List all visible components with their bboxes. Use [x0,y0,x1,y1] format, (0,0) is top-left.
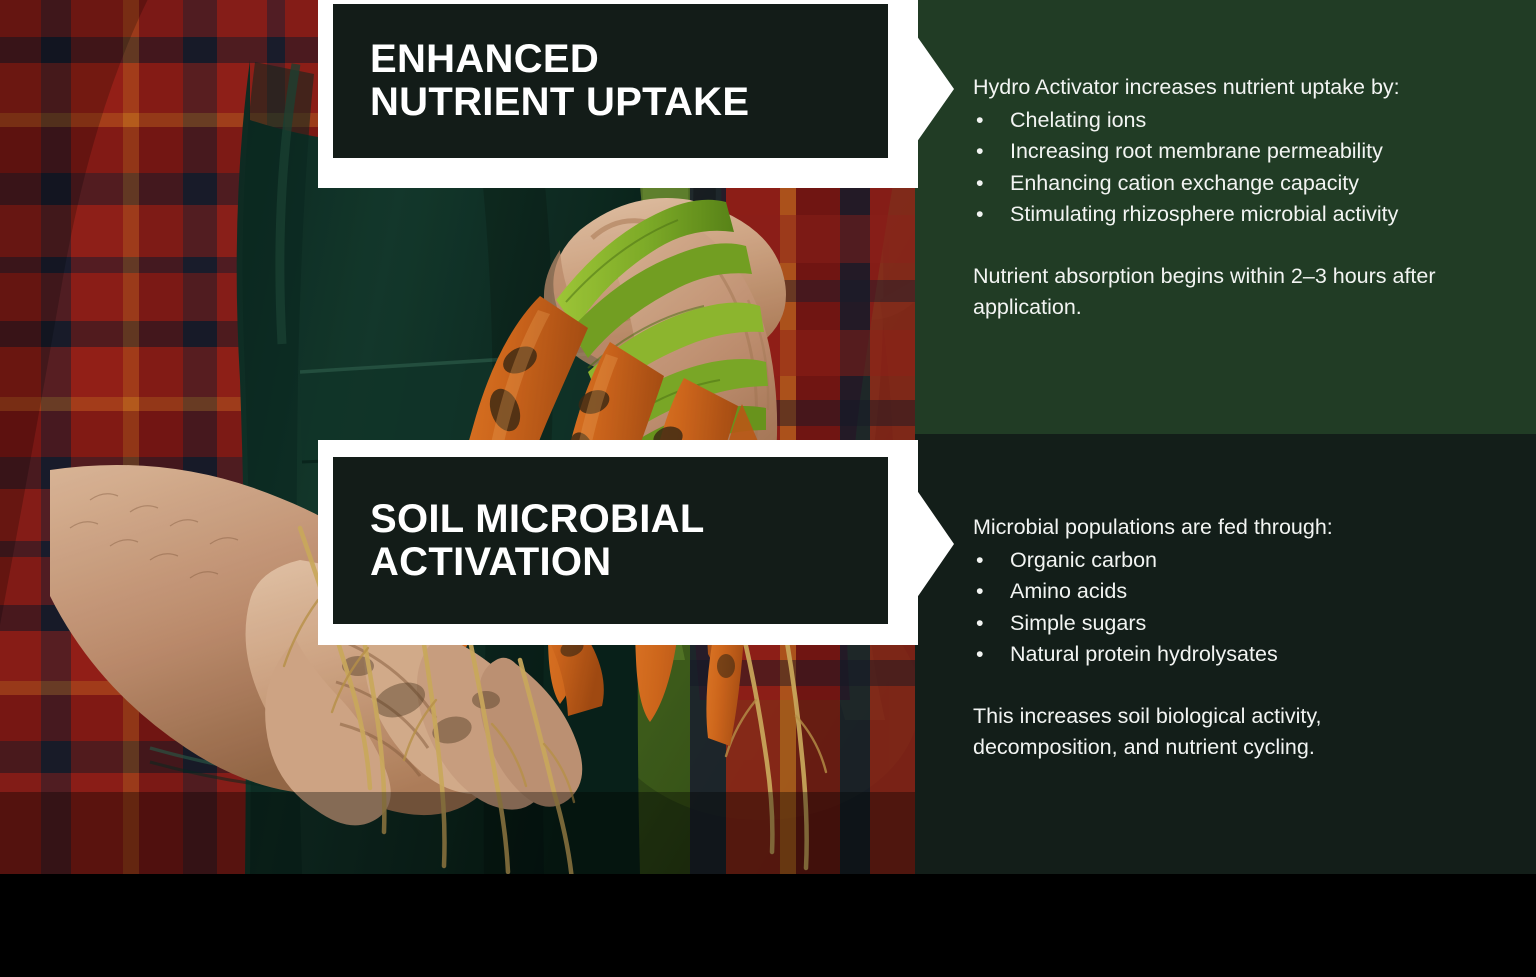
list-item-label: Increasing root membrane permeability [1010,139,1383,163]
title-text: ENHANCED NUTRIENT UPTAKE [370,38,749,124]
list-item: •Organic carbon [973,545,1493,576]
list-item-label: Enhancing cation exchange capacity [1010,171,1359,195]
list-item: •Amino acids [973,576,1493,607]
list-item: •Enhancing cation exchange capacity [973,168,1493,199]
bullet-glyph: • [976,545,984,576]
spacer [973,230,1493,261]
bullet-list: •Organic carbon •Amino acids •Simple sug… [973,545,1493,670]
bullet-list: •Chelating ions •Increasing root membran… [973,105,1493,230]
list-item-label: Organic carbon [1010,548,1157,572]
title-line-1: ENHANCED [370,37,599,81]
slide-canvas: ENHANCED NUTRIENT UPTAKE SOIL MICROBIAL … [0,0,1536,874]
title-plate: ENHANCED NUTRIENT UPTAKE [333,4,888,158]
title-line-2: ACTIVATION [370,540,612,584]
body-text-soil-microbial-activation: Microbial populations are fed through: •… [973,512,1493,763]
list-item: •Natural protein hydrolysates [973,639,1493,670]
bullet-glyph: • [976,199,984,230]
tail-line-2: application. [973,292,1493,323]
spacer [973,670,1493,701]
bullet-glyph: • [976,608,984,639]
title-plate: SOIL MICROBIAL ACTIVATION [333,457,888,624]
title-text: SOIL MICROBIAL ACTIVATION [370,498,705,584]
list-item: •Chelating ions [973,105,1493,136]
tail-paragraph: This increases soil biological activity,… [973,701,1493,763]
lead-paragraph: Hydro Activator increases nutrient uptak… [973,72,1493,103]
tail-paragraph: Nutrient absorption begins within 2–3 ho… [973,261,1493,323]
title-block-soil-microbial-activation: SOIL MICROBIAL ACTIVATION [318,440,918,645]
list-item-label: Stimulating rhizosphere microbial activi… [1010,202,1398,226]
tail-line-1: Nutrient absorption begins within 2–3 ho… [973,264,1436,288]
list-item: •Simple sugars [973,608,1493,639]
tail-line-2: decomposition, and nutrient cycling. [973,732,1493,763]
body-text-enhanced-nutrient-uptake: Hydro Activator increases nutrient uptak… [973,72,1493,323]
tail-line-1: This increases soil biological activity, [973,704,1322,728]
title-line-2: NUTRIENT UPTAKE [370,80,749,124]
bullet-glyph: • [976,168,984,199]
lead-paragraph: Microbial populations are fed through: [973,512,1493,543]
list-item-label: Amino acids [1010,579,1127,603]
bullet-glyph: • [976,136,984,167]
title-block-enhanced-nutrient-uptake: ENHANCED NUTRIENT UPTAKE [318,0,918,188]
list-item: •Stimulating rhizosphere microbial activ… [973,199,1493,230]
bullet-glyph: • [976,105,984,136]
list-item-label: Natural protein hydrolysates [1010,642,1278,666]
list-item-label: Chelating ions [1010,108,1146,132]
list-item: •Increasing root membrane permeability [973,136,1493,167]
bullet-glyph: • [976,576,984,607]
chevron-right-arrow-icon [914,440,954,645]
chevron-right-arrow-icon [914,0,954,188]
list-item-label: Simple sugars [1010,611,1146,635]
bullet-glyph: • [976,639,984,670]
title-line-1: SOIL MICROBIAL [370,497,705,541]
